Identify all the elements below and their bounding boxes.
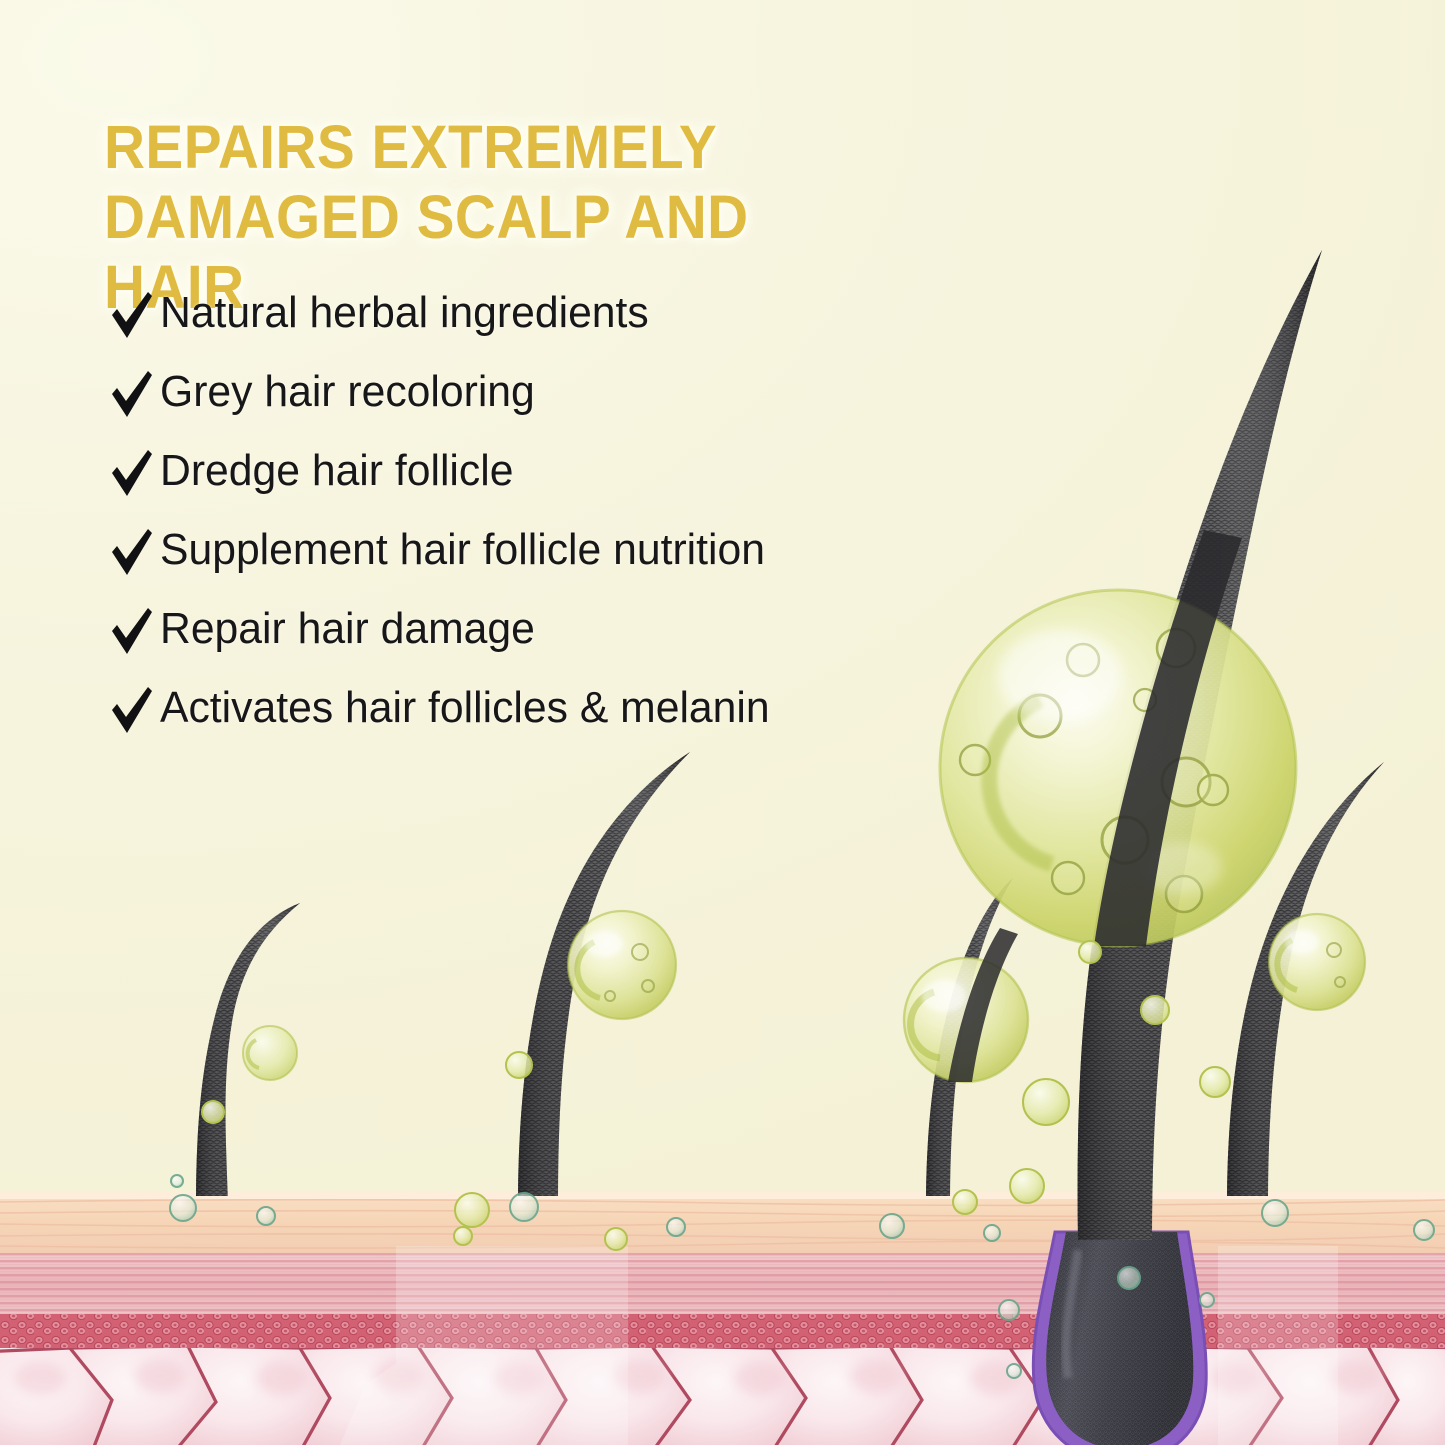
list-item: Activates hair follicles & melanin (108, 683, 908, 762)
list-item: Repair hair damage (108, 604, 908, 683)
list-item: Grey hair recoloring (108, 367, 908, 446)
check-icon (108, 290, 154, 342)
benefit-label: Grey hair recoloring (160, 367, 535, 417)
benefit-label: Repair hair damage (160, 604, 535, 654)
epidermis-layer (0, 1192, 1445, 1253)
benefit-list: Natural herbal ingredients Grey hair rec… (108, 288, 908, 762)
benefit-label: Dredge hair follicle (160, 446, 513, 496)
product-feature-graphic: REPAIRS EXTREMELY DAMAGED SCALP AND HAIR… (0, 0, 1445, 1445)
oil-bubble-left-hair (243, 1026, 297, 1080)
hair-follicle-bulb (1033, 1232, 1206, 1445)
oil-bubble-center-hair (568, 911, 676, 1019)
list-item: Natural herbal ingredients (108, 288, 908, 367)
oil-bubble-large (940, 250, 1319, 946)
check-icon (108, 685, 154, 737)
benefit-label: Supplement hair follicle nutrition (160, 525, 765, 575)
list-item: Supplement hair follicle nutrition (108, 525, 908, 604)
check-icon (108, 448, 154, 500)
oil-bubble-right-hair (1269, 914, 1365, 1010)
check-icon (108, 527, 154, 579)
list-item: Dredge hair follicle (108, 446, 908, 525)
check-icon (108, 369, 154, 421)
check-icon (108, 606, 154, 658)
oil-bubble-medium-left (904, 928, 1028, 1082)
benefit-label: Natural herbal ingredients (160, 288, 649, 338)
skin-layer-group (0, 1192, 1445, 1445)
benefit-label: Activates hair follicles & melanin (160, 683, 770, 733)
